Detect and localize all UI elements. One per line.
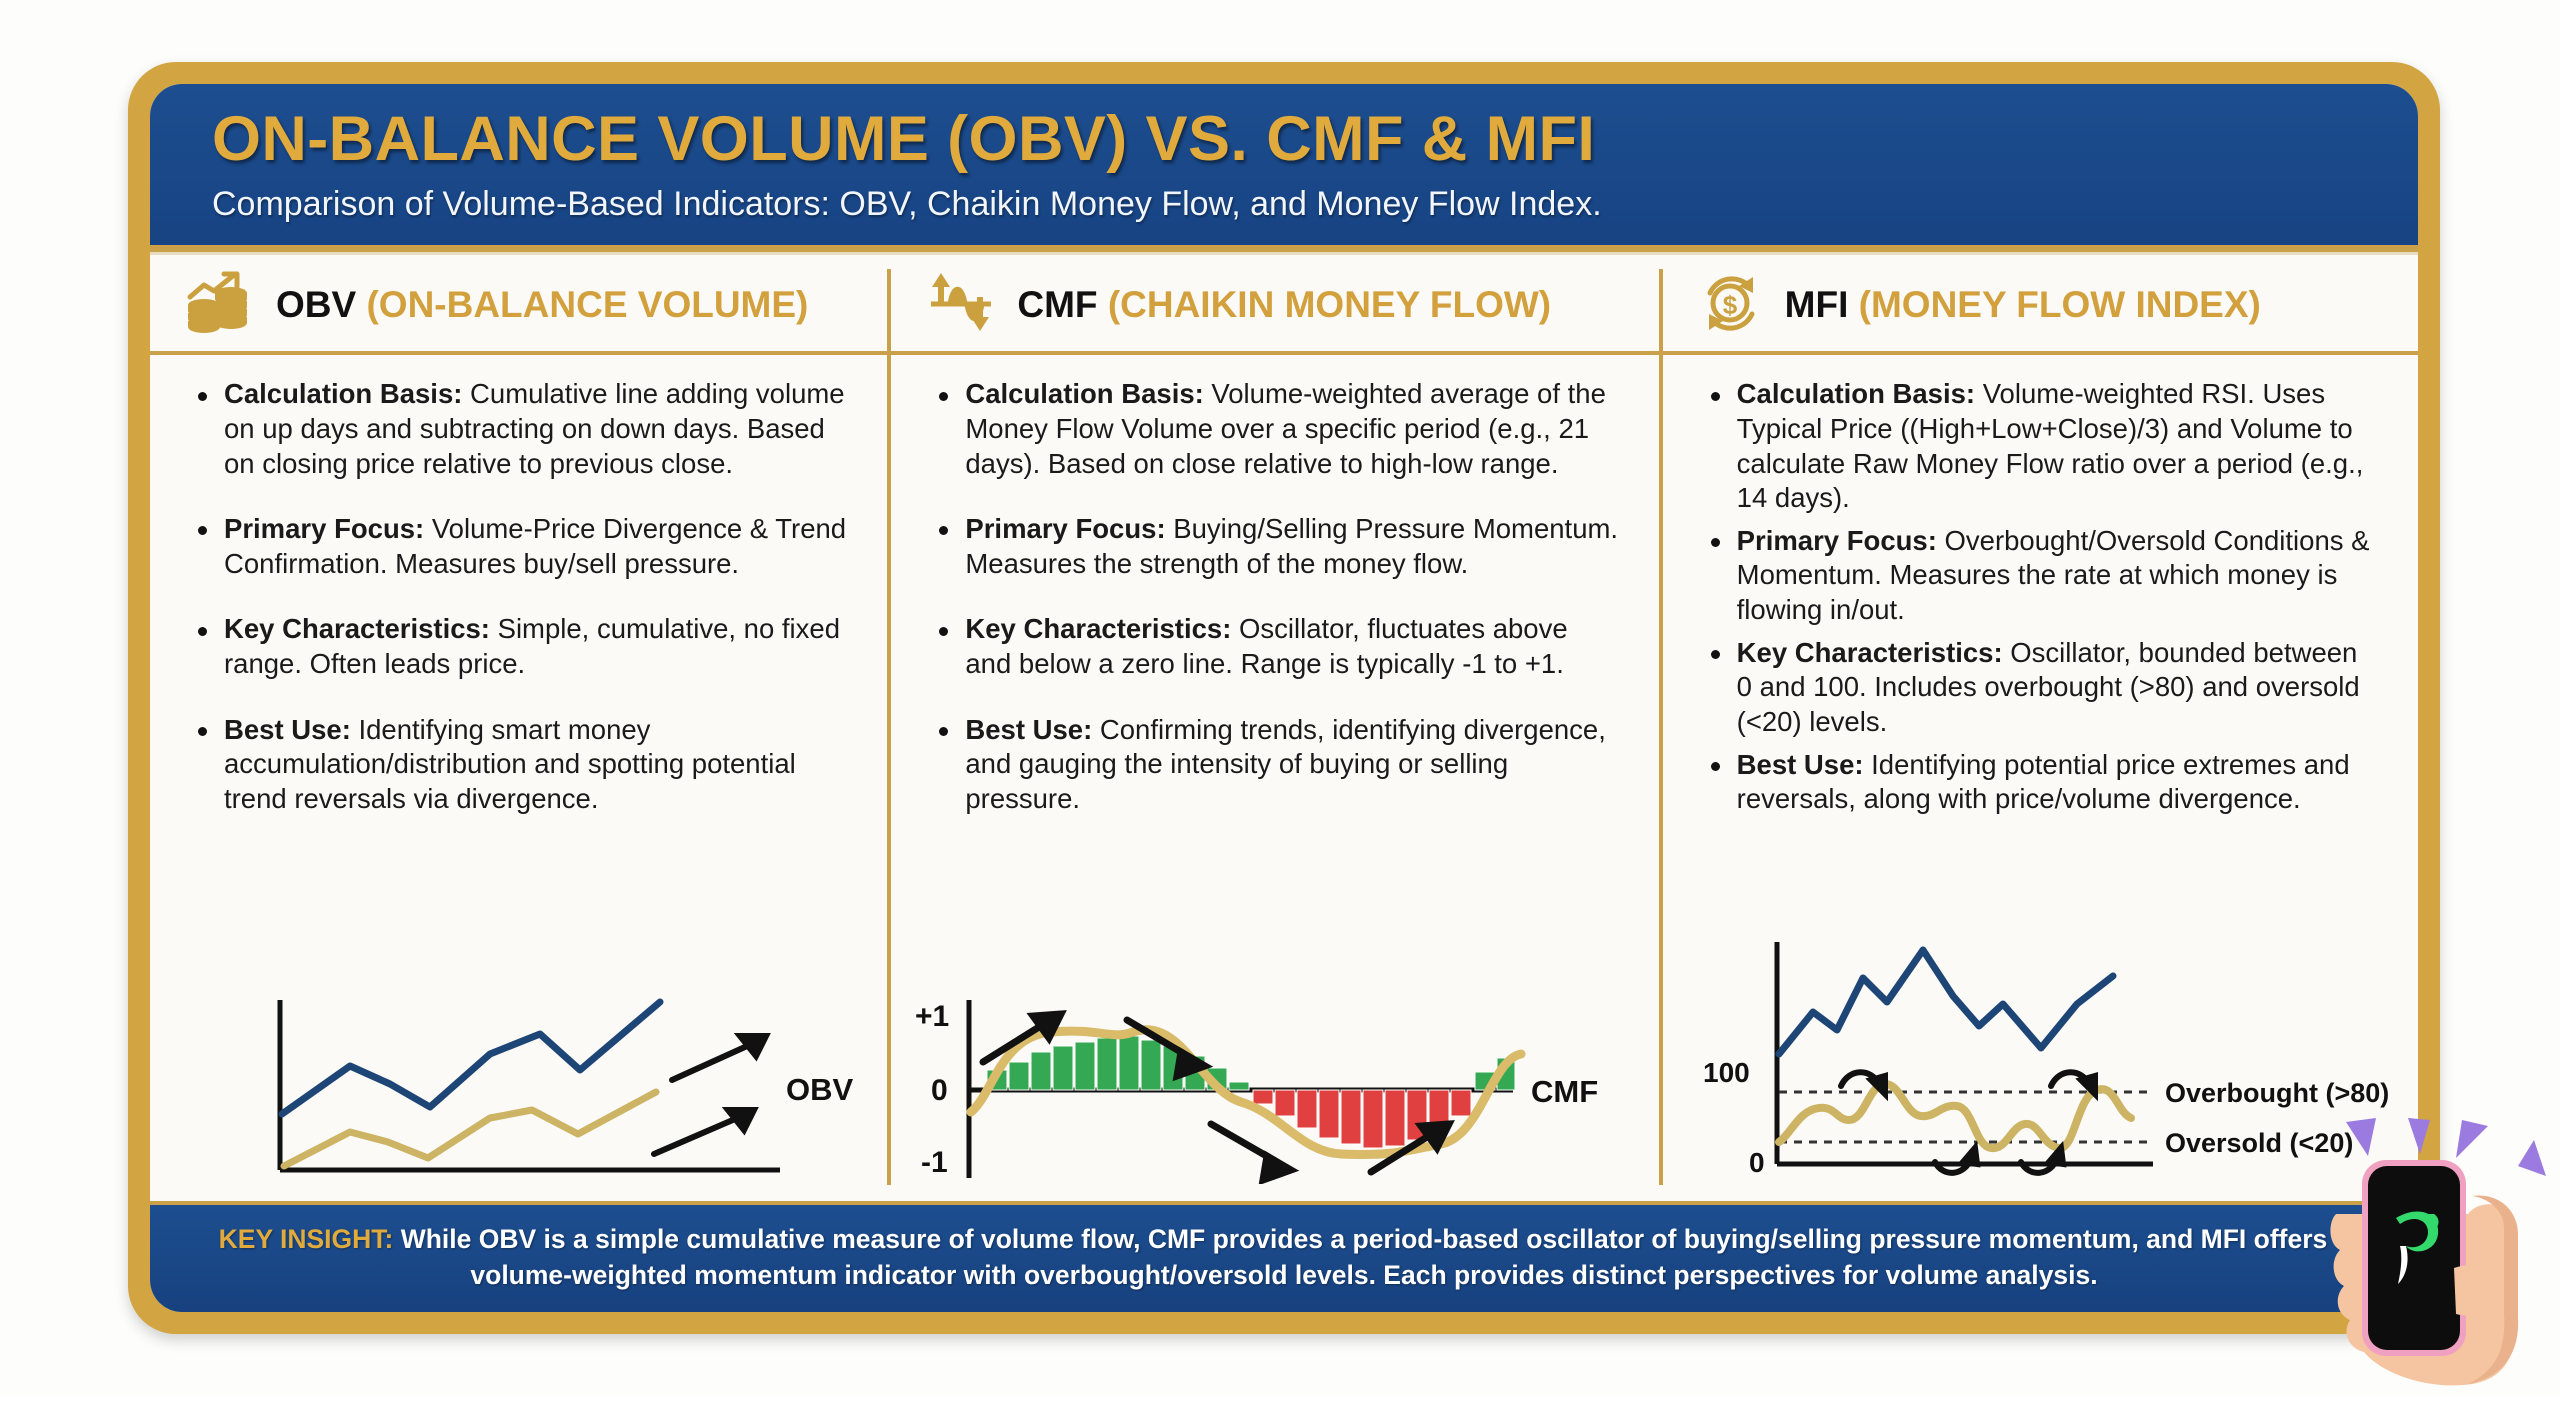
column-mfi-full: (MONEY FLOW INDEX) (1859, 284, 2261, 325)
list-item: Calculation Basis: Volume-weighted avera… (935, 377, 1618, 481)
bullet-label: Key Characteristics: (965, 613, 1231, 644)
infographic-card: ON-BALANCE VOLUME (OBV) VS. CMF & MFI Co… (150, 84, 2418, 1312)
bullet-label: Best Use: (224, 714, 351, 745)
list-item: Best Use: Identifying potential price ex… (1707, 748, 2378, 817)
key-insight-banner: KEY INSIGHT: While OBV is a simple cumul… (150, 1205, 2418, 1312)
header-gold-rule (150, 245, 2418, 252)
mfi-axis-bottom: 0 (1749, 1147, 1765, 1178)
bullet-label: Primary Focus: (965, 513, 1165, 544)
list-item: Best Use: Identifying smart money accumu… (194, 713, 847, 817)
column-cmf-title: CMF (CHAIKIN MONEY FLOW) (1017, 284, 1551, 326)
infographic-root: ON-BALANCE VOLUME (OBV) VS. CMF & MFI Co… (0, 0, 2560, 1396)
column-mfi-title: MFI (MONEY FLOW INDEX) (1785, 284, 2261, 326)
column-mfi-abbr: MFI (1785, 284, 1849, 325)
column-cmf-abbr: CMF (1017, 284, 1097, 325)
coin-stacks-arrow-icon (184, 271, 258, 340)
mfi-axis-top: 100 (1703, 1057, 1750, 1088)
dollar-refresh-circle-icon: $ (1697, 271, 1767, 340)
list-item: Primary Focus: Buying/Selling Pressure M… (935, 512, 1618, 581)
list-item: Key Characteristics: Oscillator, bounded… (1707, 636, 2378, 740)
column-cmf: CMF (CHAIKIN MONEY FLOW) Calculation Bas… (891, 255, 1658, 1201)
column-mfi: $ MFI (MONEY FLOW INDEX) (1663, 255, 2418, 1201)
bullet-label: Primary Focus: (1737, 525, 1937, 556)
hand-holding-phone-graphic (2322, 1118, 2560, 1396)
comparison-columns: OBV (ON-BALANCE VOLUME) Calculation Basi… (150, 255, 2418, 1201)
column-obv-bullets: Calculation Basis: Cumulative line addin… (150, 355, 887, 994)
mfi-chart: 100 0 (1663, 934, 2418, 1195)
column-obv-full: (ON-BALANCE VOLUME) (366, 284, 808, 325)
bullet-label: Primary Focus: (224, 513, 424, 544)
column-cmf-full: (CHAIKIN MONEY FLOW) (1108, 284, 1551, 325)
cmf-axis-bottom: -1 (921, 1146, 948, 1179)
column-mfi-bullets: Calculation Basis: Volume-weighted RSI. … (1663, 355, 2418, 934)
column-obv-abbr: OBV (276, 284, 356, 325)
bullet-label: Calculation Basis: (965, 378, 1203, 409)
column-obv: OBV (ON-BALANCE VOLUME) Calculation Basi… (150, 255, 887, 1201)
list-item: Key Characteristics: Simple, cumulative,… (194, 612, 847, 681)
list-item: Key Characteristics: Oscillator, fluctua… (935, 612, 1618, 681)
oscillator-wave-arrows-icon (925, 271, 999, 340)
cmf-axis-mid: 0 (931, 1074, 948, 1107)
column-cmf-header: CMF (CHAIKIN MONEY FLOW) (891, 255, 1658, 351)
bullet-label: Best Use: (1737, 749, 1864, 780)
list-item: Calculation Basis: Volume-weighted RSI. … (1707, 377, 2378, 516)
list-item: Primary Focus: Overbought/Oversold Condi… (1707, 524, 2378, 628)
svg-text:$: $ (1722, 290, 1737, 320)
column-obv-header: OBV (ON-BALANCE VOLUME) (150, 255, 887, 351)
key-insight-text: KEY INSIGHT: While OBV is a simple cumul… (208, 1221, 2360, 1294)
bullet-label: Key Characteristics: (224, 613, 490, 644)
mfi-overbought-label: Overbought (>80) (2165, 1078, 2389, 1108)
cmf-axis-top: +1 (915, 1000, 949, 1033)
list-item: Calculation Basis: Cumulative line addin… (194, 377, 847, 481)
obv-chart: OBV (150, 994, 887, 1195)
bullet-label: Key Characteristics: (1737, 637, 2003, 668)
cmf-chart-label: CMF (1531, 1074, 1598, 1109)
list-item: Primary Focus: Volume-Price Divergence &… (194, 512, 847, 581)
page-title: ON-BALANCE VOLUME (OBV) VS. CMF & MFI (212, 106, 2418, 173)
key-insight-body: While OBV is a simple cumulative measure… (393, 1224, 2349, 1291)
key-insight-label: KEY INSIGHT: (219, 1224, 394, 1254)
column-obv-title: OBV (ON-BALANCE VOLUME) (276, 284, 808, 326)
page-subtitle: Comparison of Volume-Based Indicators: O… (212, 183, 2418, 226)
cmf-chart: +1 0 -1 (891, 994, 1658, 1195)
bullet-label: Calculation Basis: (1737, 378, 1975, 409)
column-cmf-bullets: Calculation Basis: Volume-weighted avera… (891, 355, 1658, 994)
bullet-label: Calculation Basis: (224, 378, 462, 409)
obv-chart-label: OBV (786, 1072, 854, 1107)
bullet-label: Best Use: (965, 714, 1092, 745)
list-item: Best Use: Confirming trends, identifying… (935, 713, 1618, 817)
header-banner: ON-BALANCE VOLUME (OBV) VS. CMF & MFI Co… (150, 84, 2418, 245)
column-mfi-header: $ MFI (MONEY FLOW INDEX) (1663, 255, 2418, 351)
